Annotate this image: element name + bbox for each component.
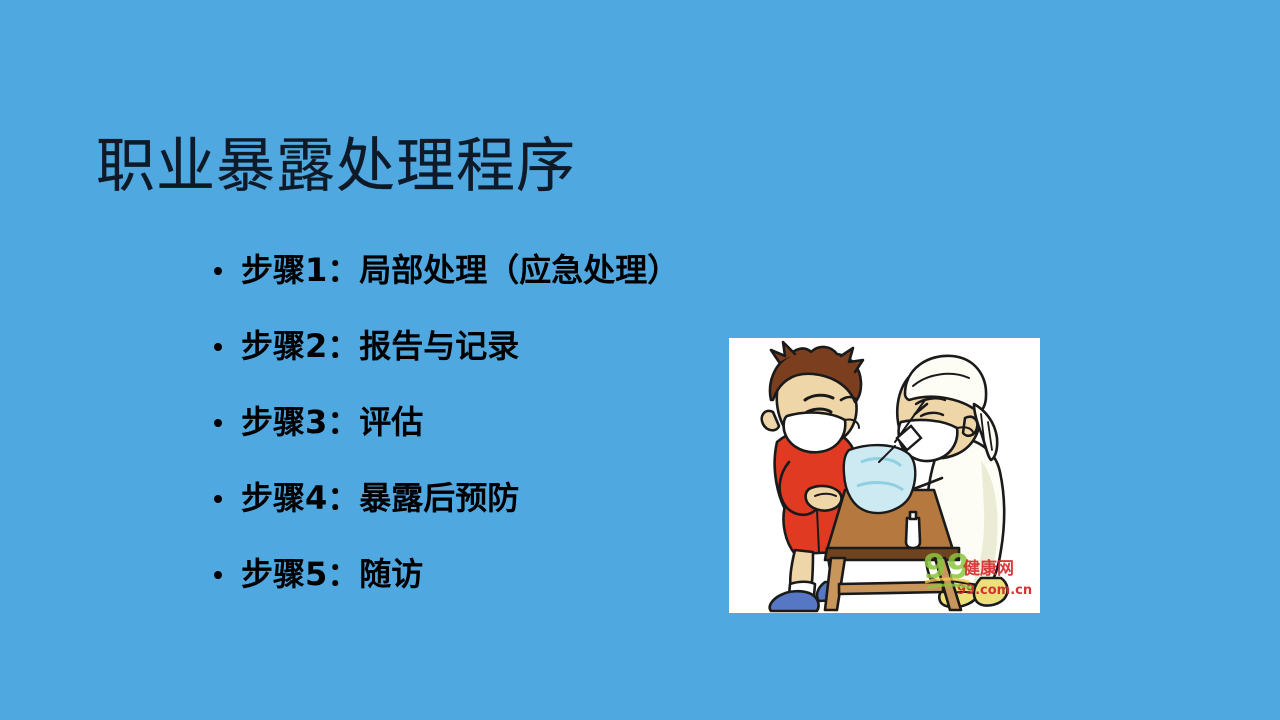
list-item-label: 步骤4：暴露后预防 [241,476,519,520]
bullet-dot-icon [214,419,222,427]
blue-cloth [844,445,916,513]
bullet-dot-icon [214,571,222,579]
bullet-dot-icon [214,343,222,351]
vaccination-illustration: 99 健康网 99.com.cn [729,338,1040,613]
bullet-dot-icon [214,495,222,503]
list-item: 步骤1：局部处理（应急处理） [208,248,848,324]
list-item-label: 步骤5：随访 [241,552,423,596]
page-title: 职业暴露处理程序 [96,128,1096,204]
bullet-dot-icon [214,267,222,275]
list-item-label: 步骤1：局部处理（应急处理） [241,248,679,292]
presentation-slide: 职业暴露处理程序 步骤1：局部处理（应急处理） 步骤2：报告与记录 步骤3：评估… [0,0,1280,720]
list-item-label: 步骤2：报告与记录 [241,324,519,368]
watermark-url: 99.com.cn [957,583,1032,598]
watermark-logo-text: 健康网 [963,558,1014,579]
list-item-label: 步骤3：评估 [241,400,423,444]
vaccination-illustration-graphic: 99 健康网 99.com.cn [729,338,1040,613]
